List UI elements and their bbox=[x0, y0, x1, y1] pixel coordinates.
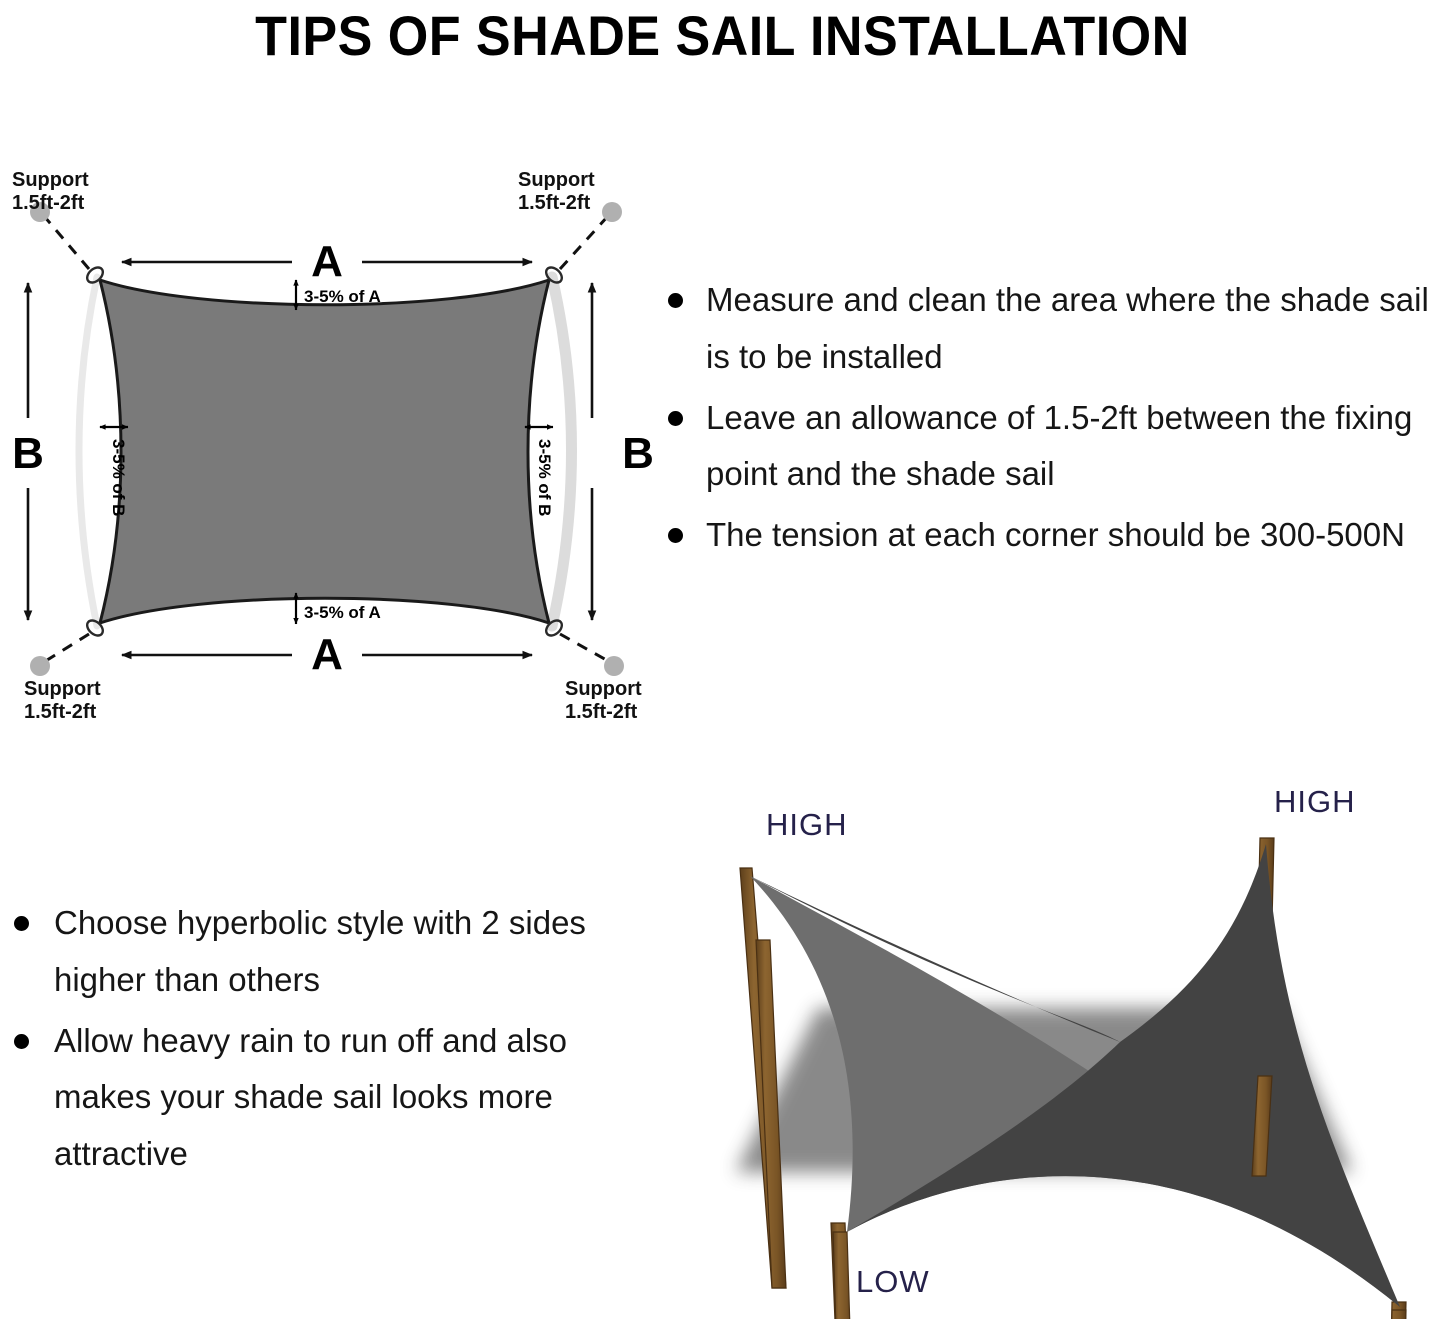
installation-tips-list: Measure and clean the area where the sha… bbox=[648, 272, 1445, 568]
list-item-text: Leave an allowance of 1.5-2ft between th… bbox=[706, 390, 1445, 504]
label-low-left: LOW bbox=[856, 1264, 930, 1299]
list-item-text: Measure and clean the area where the sha… bbox=[706, 272, 1445, 386]
list-item-text: The tension at each corner should be 300… bbox=[706, 507, 1445, 564]
support-label-line1: Support bbox=[12, 169, 89, 191]
hyperbolic-style-tips-list: Choose hyperbolic style with 2 sides hig… bbox=[4, 895, 624, 1187]
curvature-label-top: 3-5% of A bbox=[304, 287, 381, 306]
list-item: Measure and clean the area where the sha… bbox=[648, 272, 1445, 386]
list-item-text: Choose hyperbolic style with 2 sides hig… bbox=[54, 895, 624, 1009]
bullet-dot-icon bbox=[668, 411, 683, 426]
support-label-line1: Support bbox=[565, 678, 642, 700]
support-label-bottom-right: Support 1.5ft-2ft bbox=[565, 678, 642, 723]
bullet-dot-icon bbox=[14, 916, 29, 931]
page-title: TIPS OF SHADE SAIL INSTALLATION bbox=[255, 8, 1190, 64]
bullet-dot-icon bbox=[668, 528, 683, 543]
list-item: Leave an allowance of 1.5-2ft between th… bbox=[648, 390, 1445, 504]
list-item: Choose hyperbolic style with 2 sides hig… bbox=[4, 895, 624, 1009]
page-title-bar: TIPS OF SHADE SAIL INSTALLATION bbox=[0, 0, 1445, 72]
curvature-label-bottom: 3-5% of A bbox=[304, 603, 381, 622]
label-high-right: HIGH bbox=[1274, 784, 1356, 819]
list-item-text: Allow heavy rain to run off and also mak… bbox=[54, 1013, 624, 1183]
dimension-label-a-bottom: A bbox=[311, 630, 343, 679]
support-label-bottom-left: Support 1.5ft-2ft bbox=[24, 678, 101, 723]
dimension-label-b-left: B bbox=[12, 429, 44, 478]
list-item: Allow heavy rain to run off and also mak… bbox=[4, 1013, 624, 1183]
hyperbolic-sail-illustration: HIGH HIGH LOW LOW bbox=[640, 780, 1445, 1319]
bullet-dot-icon bbox=[668, 293, 683, 308]
support-label-line2: 1.5ft-2ft bbox=[565, 701, 638, 723]
support-label-line1: Support bbox=[24, 678, 101, 700]
curvature-label-right: 3-5% of B bbox=[535, 439, 554, 516]
post-low-right-front bbox=[1386, 1310, 1406, 1319]
support-label-line2: 1.5ft-2ft bbox=[24, 701, 97, 723]
shade-sail-body bbox=[100, 280, 549, 623]
support-label-line1: Support bbox=[518, 169, 595, 191]
bullet-dot-icon bbox=[14, 1034, 29, 1049]
dimension-label-a-top: A bbox=[311, 237, 343, 286]
support-label-line2: 1.5ft-2ft bbox=[12, 192, 85, 214]
support-label-top-right: Support 1.5ft-2ft bbox=[518, 169, 595, 214]
rectangular-sail-diagram: Support 1.5ft-2ft Support 1.5ft-2ft Supp… bbox=[0, 150, 660, 740]
curvature-indicator-left: 3-5% of B bbox=[100, 427, 128, 516]
label-high-left: HIGH bbox=[766, 807, 848, 842]
support-label-top-left: Support 1.5ft-2ft bbox=[12, 169, 89, 214]
support-label-line2: 1.5ft-2ft bbox=[518, 192, 591, 214]
curvature-label-left: 3-5% of B bbox=[109, 439, 128, 516]
post-low-left-front bbox=[833, 1232, 852, 1319]
list-item: The tension at each corner should be 300… bbox=[648, 507, 1445, 564]
